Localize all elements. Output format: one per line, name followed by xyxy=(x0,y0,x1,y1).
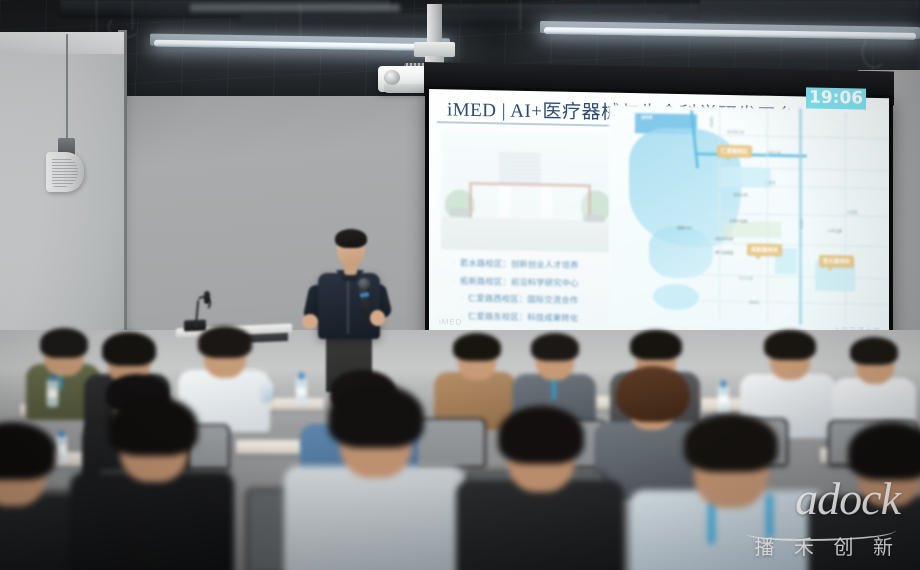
map-road xyxy=(767,112,768,322)
bullet-text: 若水路校区：创新创业人才培养 xyxy=(460,258,579,271)
projector-mount-plate xyxy=(414,42,455,57)
slide-bullet-item: · 仁爱路东校区：科技成果转化 xyxy=(453,310,633,325)
photo-car xyxy=(449,207,471,215)
water-bottle xyxy=(47,380,58,407)
slide-footer-logo: iMED xyxy=(439,317,463,326)
map-street-name: 东方大道 xyxy=(739,275,753,280)
map-road xyxy=(701,274,889,279)
map-marker-renai: 仁爱路校区 xyxy=(717,145,752,158)
photo-gate-pillar xyxy=(541,186,552,217)
person-hair xyxy=(850,337,898,365)
ceiling-cable-coil xyxy=(862,36,886,68)
map-lake-lower xyxy=(649,225,713,278)
map-poi: 圆融CBD xyxy=(675,226,692,231)
map-poi: 苏科大学 xyxy=(731,193,748,198)
projector-pole xyxy=(427,4,442,44)
map-street-name: 文萃路 xyxy=(847,209,857,214)
lanyard xyxy=(552,378,556,400)
lanyard xyxy=(766,494,773,538)
map-main-road xyxy=(799,108,802,324)
person-hair xyxy=(198,326,252,358)
projector-lens-icon xyxy=(384,70,400,85)
person-hair xyxy=(848,422,920,480)
bottle-label xyxy=(47,389,58,398)
microphone-head-icon xyxy=(358,278,370,289)
map-street-name: 南施街 xyxy=(749,299,759,304)
presenter-left-hand xyxy=(302,314,318,329)
photo-campus-gate xyxy=(469,182,591,221)
bullet-text: 仁爱路西校区：国际交流合作 xyxy=(468,293,578,306)
water-bottle xyxy=(56,436,67,463)
map-road xyxy=(705,243,889,248)
slide-bullet-item: · 仁爱路西校区：国际交流合作 xyxy=(453,292,633,307)
slide-bullet-list: · 若水路校区：创新创业人才培养 · 拓新路校区：前沿科学研究中心 · 仁爱路西… xyxy=(453,257,633,331)
map-marker-tuoxin: 拓新路地块 xyxy=(747,243,782,256)
map-street-name: 金鸡湖大道 xyxy=(727,129,744,134)
map-street-name: 仁爱路 xyxy=(765,180,775,185)
map-road xyxy=(701,300,889,305)
photo-car xyxy=(583,214,605,222)
slide-bullet-item: · 若水路校区：创新创业人才培养 xyxy=(453,257,633,272)
map-poi: 生物产业园 xyxy=(727,219,747,224)
map-poi: 腾飞创新园 xyxy=(713,251,733,256)
water-bottle xyxy=(296,378,307,405)
bullet-dot-icon: · xyxy=(453,275,460,286)
person-hair xyxy=(684,414,778,472)
bullet-text: 拓新路校区：前沿科学研究中心 xyxy=(460,275,579,288)
bullet-dot-icon: · xyxy=(461,293,468,304)
person-hair xyxy=(108,396,198,456)
map-poi: 人才公园 xyxy=(825,229,842,234)
presenter-shirt xyxy=(318,273,380,339)
gooseneck-microphone-capsule xyxy=(204,291,210,304)
person-hair xyxy=(531,333,579,361)
timestamp-overlay: 19:06 xyxy=(806,87,866,109)
person-hair xyxy=(40,328,88,358)
person-hair xyxy=(630,330,682,360)
map-street-name: 星港街 xyxy=(709,117,714,127)
slide-bullet-item: · 拓新路校区：前沿科学研究中心 xyxy=(453,275,633,290)
ceiling-duct xyxy=(700,0,920,20)
map-road xyxy=(721,135,889,140)
person-hair xyxy=(328,384,424,448)
person-hair-long xyxy=(616,366,690,422)
person-body xyxy=(456,480,624,570)
speaker-suspension-wire xyxy=(66,34,68,140)
map-road xyxy=(719,111,720,321)
map-poi: 纳米科技园 xyxy=(713,237,733,242)
presenter-right-hand xyxy=(370,310,385,326)
photo-ground xyxy=(441,217,611,252)
map-street-name: 中新大道 xyxy=(767,150,781,155)
presenter-hair xyxy=(335,229,367,248)
map-poi-lake: 金鸡湖 xyxy=(639,115,652,120)
bullet-text: 仁爱路东校区：科技成果转化 xyxy=(468,310,578,323)
hanging-speaker xyxy=(46,152,84,192)
bottle-label xyxy=(56,445,67,454)
person-hair xyxy=(102,332,156,366)
person-hair xyxy=(453,333,501,361)
light-housing xyxy=(190,4,400,12)
campus-location-map: 金鸡湖大道 中新大道 仁爱路 文萃路 东方大道 南施街 星港街 星湖街 苏科大学… xyxy=(609,105,889,331)
water-bottle xyxy=(718,386,729,413)
presenter-shirt-placket xyxy=(347,276,349,334)
screenshot-root: EPSON iMED | AI+医疗器械与生命科学研发平台 xyxy=(0,0,920,570)
smartphone xyxy=(262,382,273,401)
photo-gate-pillar xyxy=(499,185,510,216)
person-hair xyxy=(498,406,584,464)
projection-screen: iMED | AI+医疗器械与生命科学研发平台 xyxy=(429,89,889,340)
bottle-label xyxy=(718,395,729,404)
map-marker-ruoshui: 若水路地块 xyxy=(819,255,854,268)
map-block-campus xyxy=(721,167,771,188)
bottle-label xyxy=(296,387,307,396)
bullet-dot-icon: · xyxy=(453,257,460,268)
person-body xyxy=(808,496,920,570)
map-street-name: 星湖街 xyxy=(799,218,804,228)
map-lake-small xyxy=(653,283,699,310)
person-body xyxy=(284,466,464,570)
person-body xyxy=(70,472,234,570)
photo-building xyxy=(499,152,541,183)
person-hair xyxy=(764,330,816,360)
campus-gate-photo xyxy=(441,129,611,252)
map-road xyxy=(845,113,846,323)
ceiling-cable xyxy=(520,0,521,30)
